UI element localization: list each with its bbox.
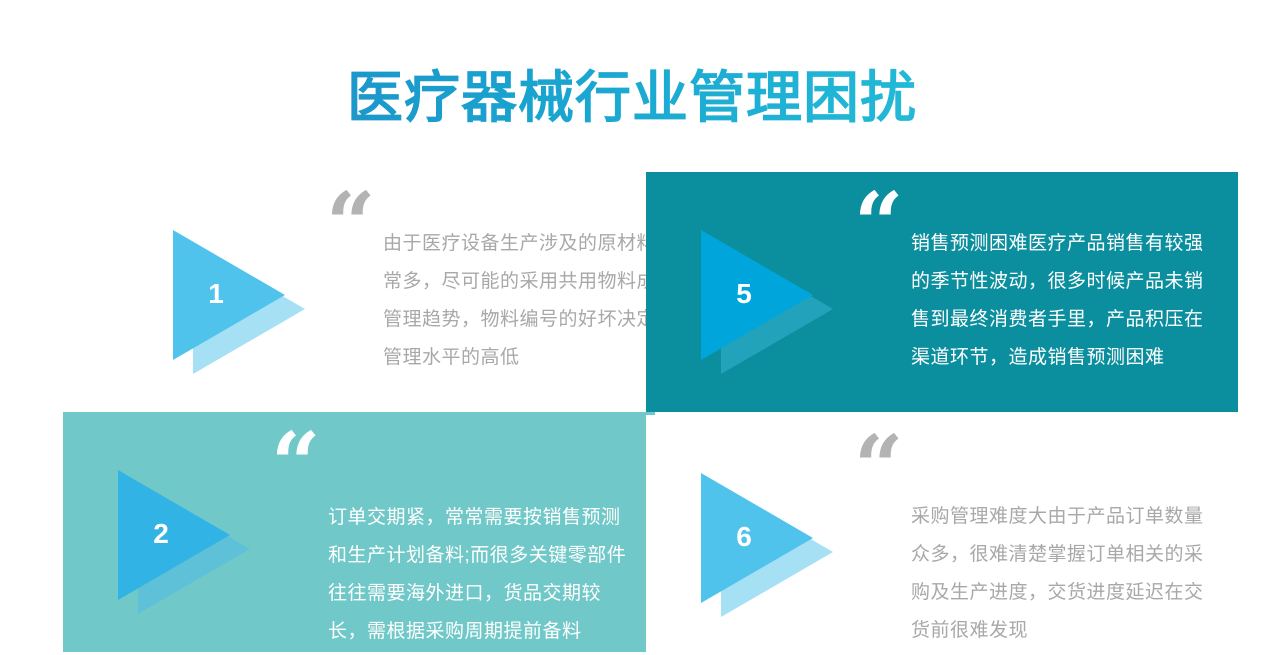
card-text-2: 订单交期紧，常常需要按销售预测和生产计划备料;而很多关键零部件往往需要海外进口，… (328, 499, 628, 651)
card-text-6: 采购管理难度大由于产品订单数量众多，很难清楚掌握订单相关的采购及生产进度，交货进… (911, 498, 1211, 650)
card-number-6: 6 (729, 523, 759, 551)
quote-mark-icon: “ (854, 425, 899, 511)
cards-container: 1 “ 由于医疗设备生产涉及的原材料非常多，尽可能的采用共用物料成为管理趋势，物… (63, 172, 1238, 653)
card-item-2[interactable]: 2 “ 订单交期紧，常常需要按销售预测和生产计划备料;而很多关键零部件往往需要海… (63, 412, 655, 652)
page-title: 医疗器械行业管理困扰 (0, 64, 1264, 131)
arrow-badge-2: 2 (118, 470, 250, 600)
quote-mark-icon: “ (326, 182, 371, 268)
arrow-badge-5: 5 (701, 230, 833, 360)
card-item-5[interactable]: 5 “ 销售预测困难医疗产品销售有较强的季节性波动，很多时候产品未销售到最终消费… (646, 172, 1238, 412)
quote-mark-icon: “ (854, 182, 899, 268)
card-number-1: 1 (201, 280, 231, 308)
card-text-1: 由于医疗设备生产涉及的原材料非常多，尽可能的采用共用物料成为管理趋势，物料编号的… (383, 225, 683, 377)
quote-mark-icon: “ (271, 422, 316, 508)
card-number-5: 5 (729, 280, 759, 308)
card-item-1[interactable]: 1 “ 由于医疗设备生产涉及的原材料非常多，尽可能的采用共用物料成为管理趋势，物… (118, 172, 710, 412)
arrow-badge-1: 1 (173, 230, 305, 360)
card-text-5: 销售预测困难医疗产品销售有较强的季节性波动，很多时候产品未销售到最终消费者手里，… (911, 225, 1211, 377)
card-number-2: 2 (146, 520, 176, 548)
card-item-6[interactable]: 6 “ 采购管理难度大由于产品订单数量众多，很难清楚掌握订单相关的采购及生产进度… (646, 415, 1238, 655)
arrow-badge-6: 6 (701, 473, 833, 603)
